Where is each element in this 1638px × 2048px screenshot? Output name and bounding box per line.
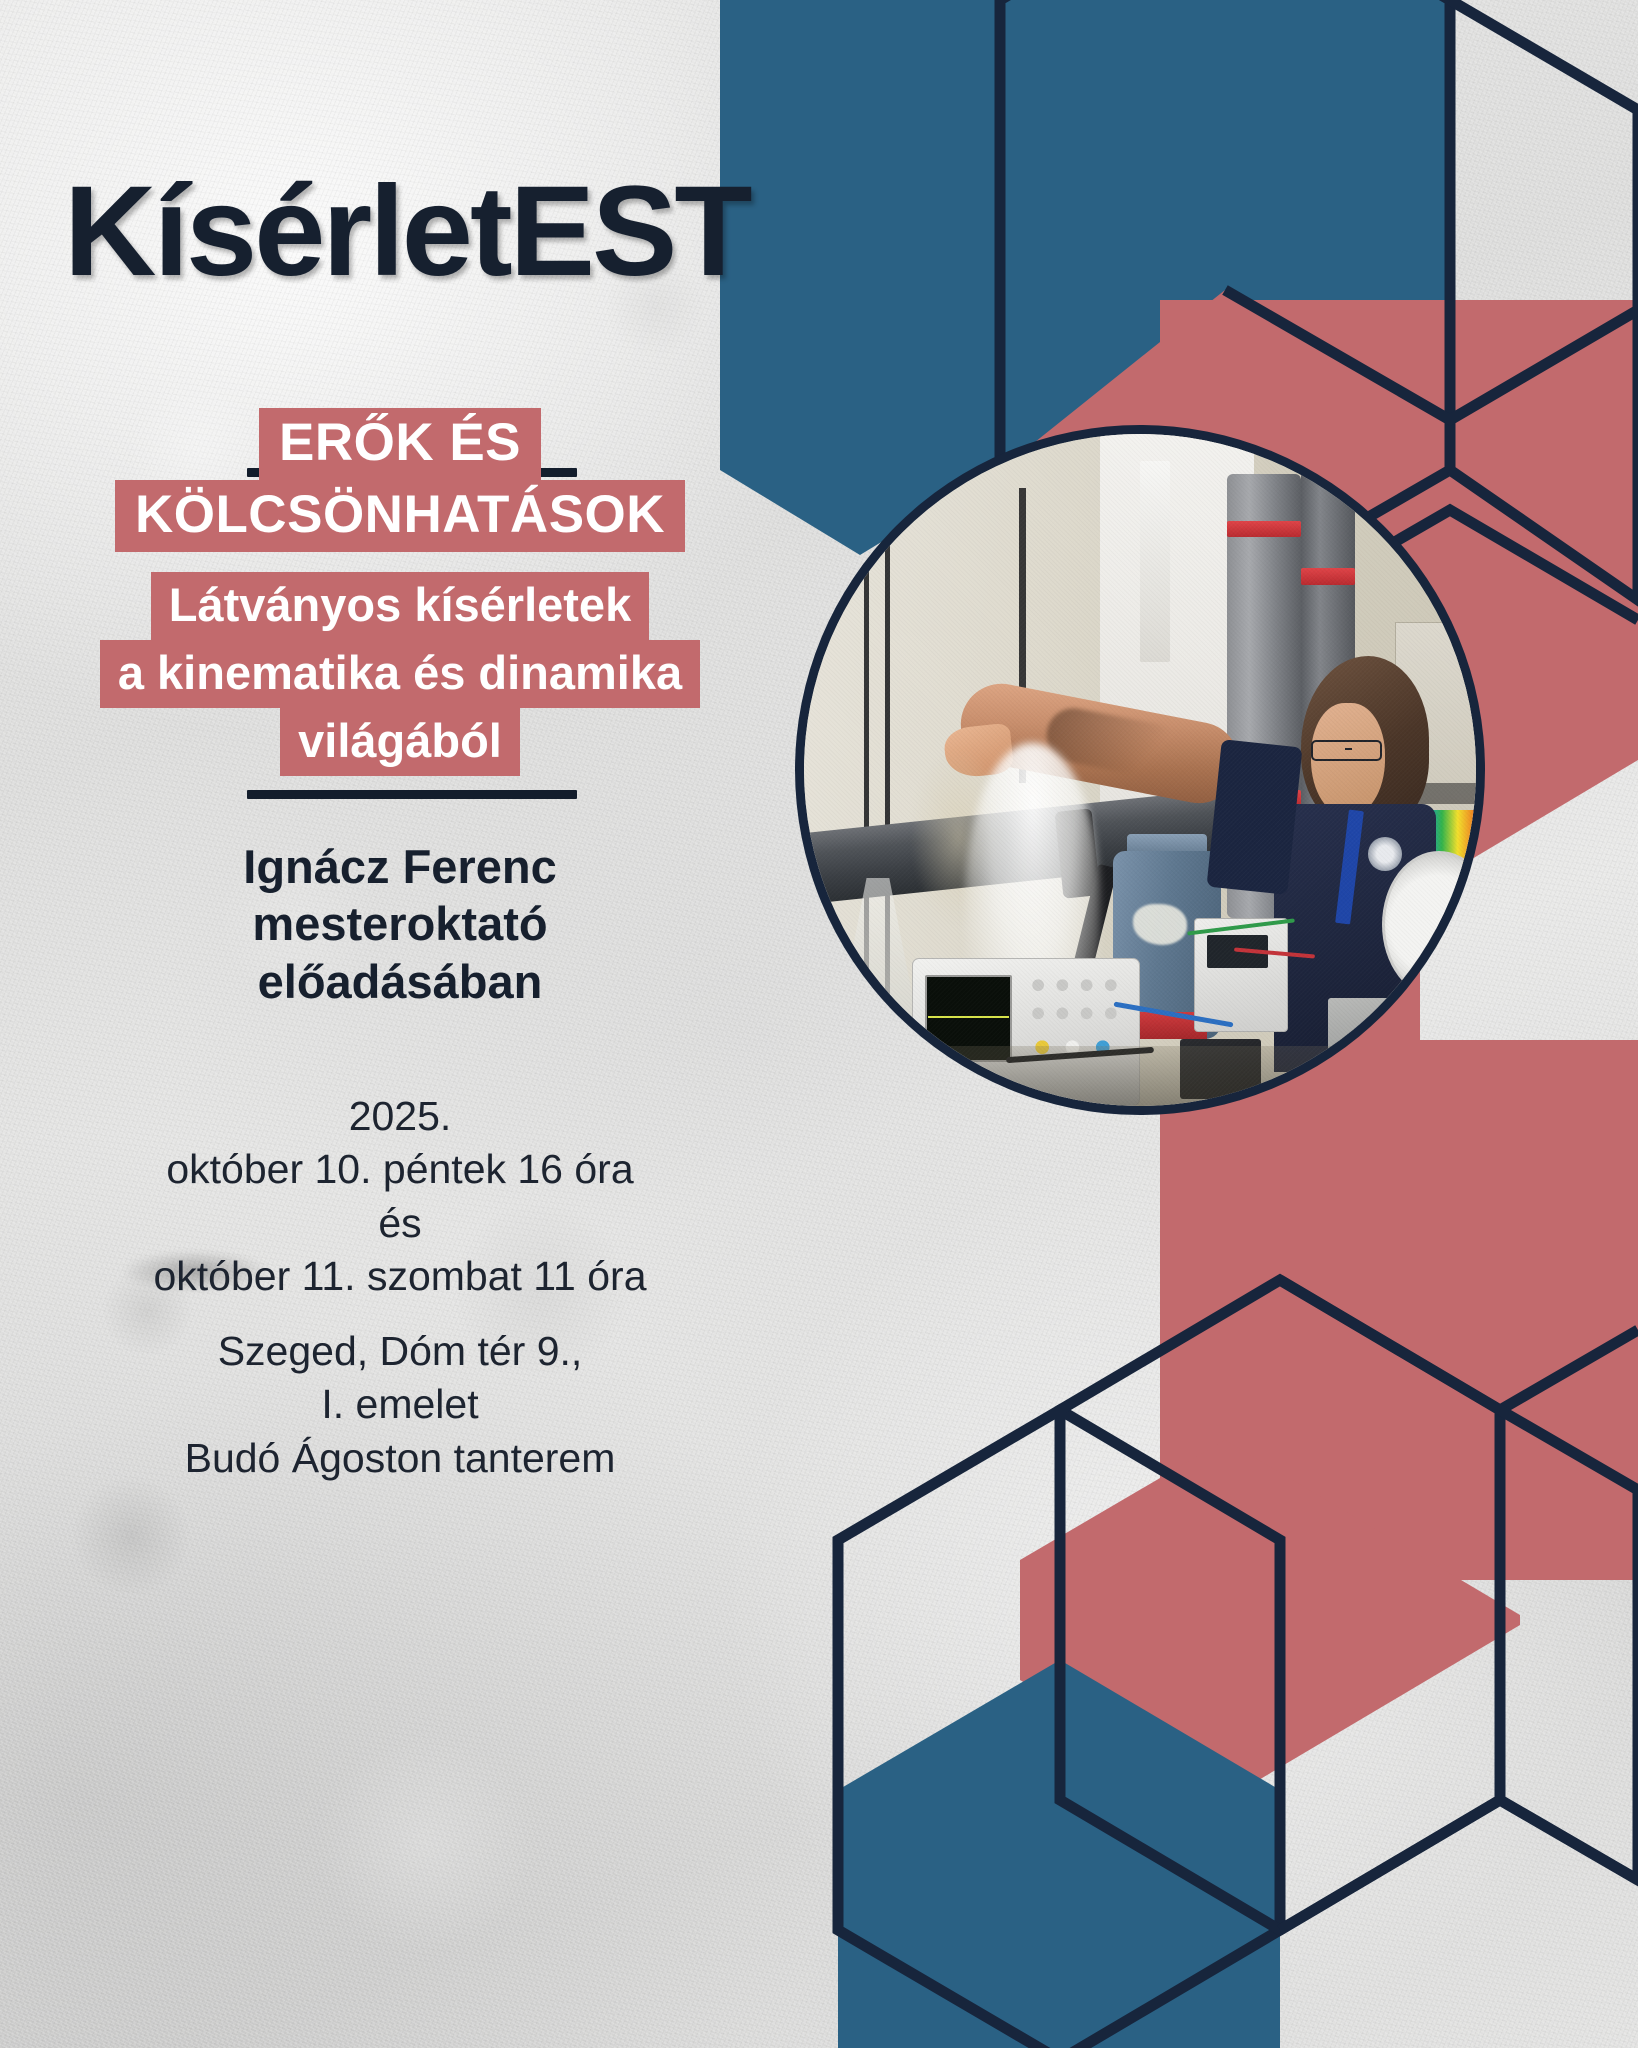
venue-floor: I. emelet xyxy=(0,1378,800,1431)
subheadline-line-3: világából xyxy=(280,708,520,776)
venue-address: Szeged, Dóm tér 9., xyxy=(0,1325,800,1378)
speaker-block: Ignácz Ferenc mesteroktató előadásában xyxy=(0,838,800,1010)
subheadline-line-1: Látványos kísérletek xyxy=(151,572,649,640)
navy-hex-edge-bottomright-c xyxy=(1280,1800,1638,1930)
poster: KísérletEST ERŐK ÉS KÖLCSÖNHATÁSOK Látvá… xyxy=(0,0,1638,2048)
date-year: 2025. xyxy=(0,1090,800,1143)
poster-title: KísérletEST xyxy=(64,168,804,296)
divider-bottom xyxy=(247,790,577,799)
date-session-1: október 10. péntek 16 óra xyxy=(0,1143,800,1196)
date-conjunction: és xyxy=(0,1197,800,1250)
speaker-name: Ignácz Ferenc xyxy=(0,838,800,895)
headline-block: ERŐK ÉS KÖLCSÖNHATÁSOK xyxy=(0,408,800,552)
speaker-role: mesteroktató xyxy=(0,895,800,952)
photo-circle-border xyxy=(795,425,1485,1115)
speaker-presented-by: előadásában xyxy=(0,953,800,1010)
headline-line-2: KÖLCSÖNHATÁSOK xyxy=(115,480,685,552)
date-block: 2025. október 10. péntek 16 óra és októb… xyxy=(0,1090,800,1303)
text-column: KísérletEST ERŐK ÉS KÖLCSÖNHATÁSOK Látvá… xyxy=(0,0,800,2048)
date-session-2: október 11. szombat 11 óra xyxy=(0,1250,800,1303)
headline-line-1: ERŐK ÉS xyxy=(259,408,541,480)
subheadline-block: Látványos kísérletek a kinematika és din… xyxy=(0,572,800,776)
presenter-photo xyxy=(804,434,1476,1106)
venue-block: Szeged, Dóm tér 9., I. emelet Budó Ágost… xyxy=(0,1325,800,1485)
venue-room: Budó Ágoston tanterem xyxy=(0,1432,800,1485)
subheadline-line-2: a kinematika és dinamika xyxy=(100,640,700,708)
